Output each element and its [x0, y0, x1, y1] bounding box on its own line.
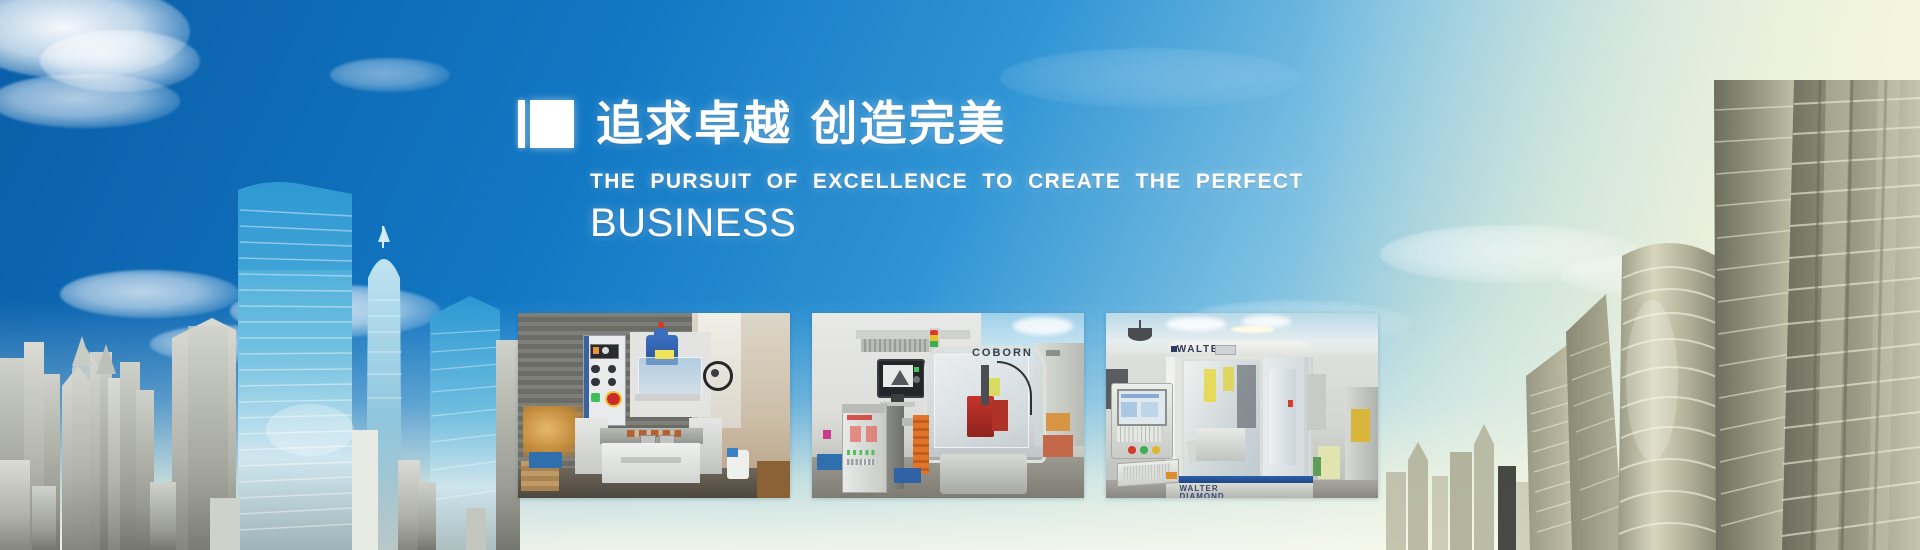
cabinet-brand-mark	[847, 415, 871, 421]
cabinet-yellow-panel	[1351, 409, 1370, 442]
orange-storage-box	[1046, 413, 1070, 432]
transparent-safety-guard	[638, 357, 703, 396]
console-start-button	[1140, 446, 1148, 453]
apron-slot	[621, 457, 681, 463]
magenta-item	[823, 430, 831, 439]
orange-cable-chain	[913, 415, 929, 474]
red-knob	[658, 322, 663, 328]
yellow-internal-guard	[1204, 369, 1216, 402]
logo-block-icon	[530, 100, 574, 148]
console-screen-panel	[1141, 402, 1157, 417]
cloud-icon	[1013, 317, 1073, 336]
panel-knob	[608, 378, 616, 387]
console-mode-button	[1152, 446, 1160, 453]
machine-nameplate	[1215, 345, 1236, 354]
console-keypad	[1117, 426, 1163, 443]
blue-bin	[529, 452, 562, 469]
cabinet-slot	[850, 426, 861, 443]
cabinet-top	[842, 404, 886, 413]
right-cabinet-mark	[1046, 350, 1060, 356]
bar-block-logo-mark	[518, 100, 574, 148]
headline-business-word: BUSINESS	[590, 200, 1278, 246]
panel-start-button	[591, 393, 600, 402]
title-row: 追求卓越 创造完美	[518, 100, 1278, 148]
monitor-green-button	[914, 367, 919, 373]
machine-base-label: WALTER DIAMOND	[1179, 485, 1244, 492]
console-screen-panel	[1121, 402, 1137, 417]
warning-label	[655, 350, 674, 359]
panel-knob	[591, 378, 599, 387]
panel-knob	[608, 365, 616, 374]
machine-photo-coborn: COBORN	[812, 313, 1084, 498]
corporate-hero-banner: 追求卓越 创造完美 THE PURSUIT OF EXCELLENCE TO C…	[0, 0, 1920, 550]
wooden-desk	[757, 461, 790, 498]
keyboard-orange-tab	[1166, 472, 1177, 479]
machine-photo-surface-grinder	[518, 313, 790, 498]
screen-graphic	[891, 370, 909, 385]
headline-block: 追求卓越 创造完美 THE PURSUIT OF EXCELLENCE TO C…	[518, 100, 1278, 246]
cabinet-keypad	[847, 459, 877, 465]
signal-lamp-green	[930, 341, 938, 347]
red-storage-box	[1043, 435, 1073, 457]
machine-photo-strip: COBORN	[518, 313, 1378, 498]
coolant-canister	[1318, 446, 1340, 479]
bag-blue-label	[727, 448, 738, 457]
headline-chinese: 追求卓越 创造完美	[596, 101, 1006, 148]
overhead-beam	[856, 330, 970, 339]
pendant-lamp	[1128, 328, 1152, 341]
cabinet-slot	[866, 426, 877, 443]
machine-photo-walter: WALTER WALTER DIAMOND	[1106, 313, 1378, 498]
enclosure-right-glass	[1269, 369, 1296, 465]
status-led-red	[1288, 400, 1293, 407]
emergency-stop-button	[605, 391, 622, 408]
blue-equipment-box	[894, 468, 921, 483]
machine-table	[635, 394, 700, 400]
internal-worktable	[1196, 428, 1245, 461]
coborn-brand-label: COBORN	[967, 348, 1038, 359]
console-stop-button	[1128, 446, 1136, 453]
logo-bar-icon	[518, 100, 525, 148]
panel-knob	[591, 365, 599, 374]
spindle-cap	[654, 328, 668, 337]
panel-indicator-white	[602, 347, 609, 354]
console-screen-row	[1121, 394, 1159, 398]
yellow-internal-guard	[1223, 367, 1234, 391]
side-access-panel	[1307, 374, 1326, 430]
louver-vent	[861, 339, 932, 352]
cabinet-led-row	[847, 450, 874, 455]
machine-spindle	[981, 365, 989, 406]
internal-spindle-area	[1237, 365, 1256, 428]
headline-english-subtitle: THE PURSUIT OF EXCELLENCE TO CREATE THE …	[590, 170, 1278, 194]
yellow-component	[989, 378, 1000, 397]
machine-apron	[602, 443, 700, 484]
enclosure-base-drum	[940, 454, 1027, 495]
panel-indicator-orange	[593, 347, 600, 354]
blue-crate	[817, 454, 841, 471]
